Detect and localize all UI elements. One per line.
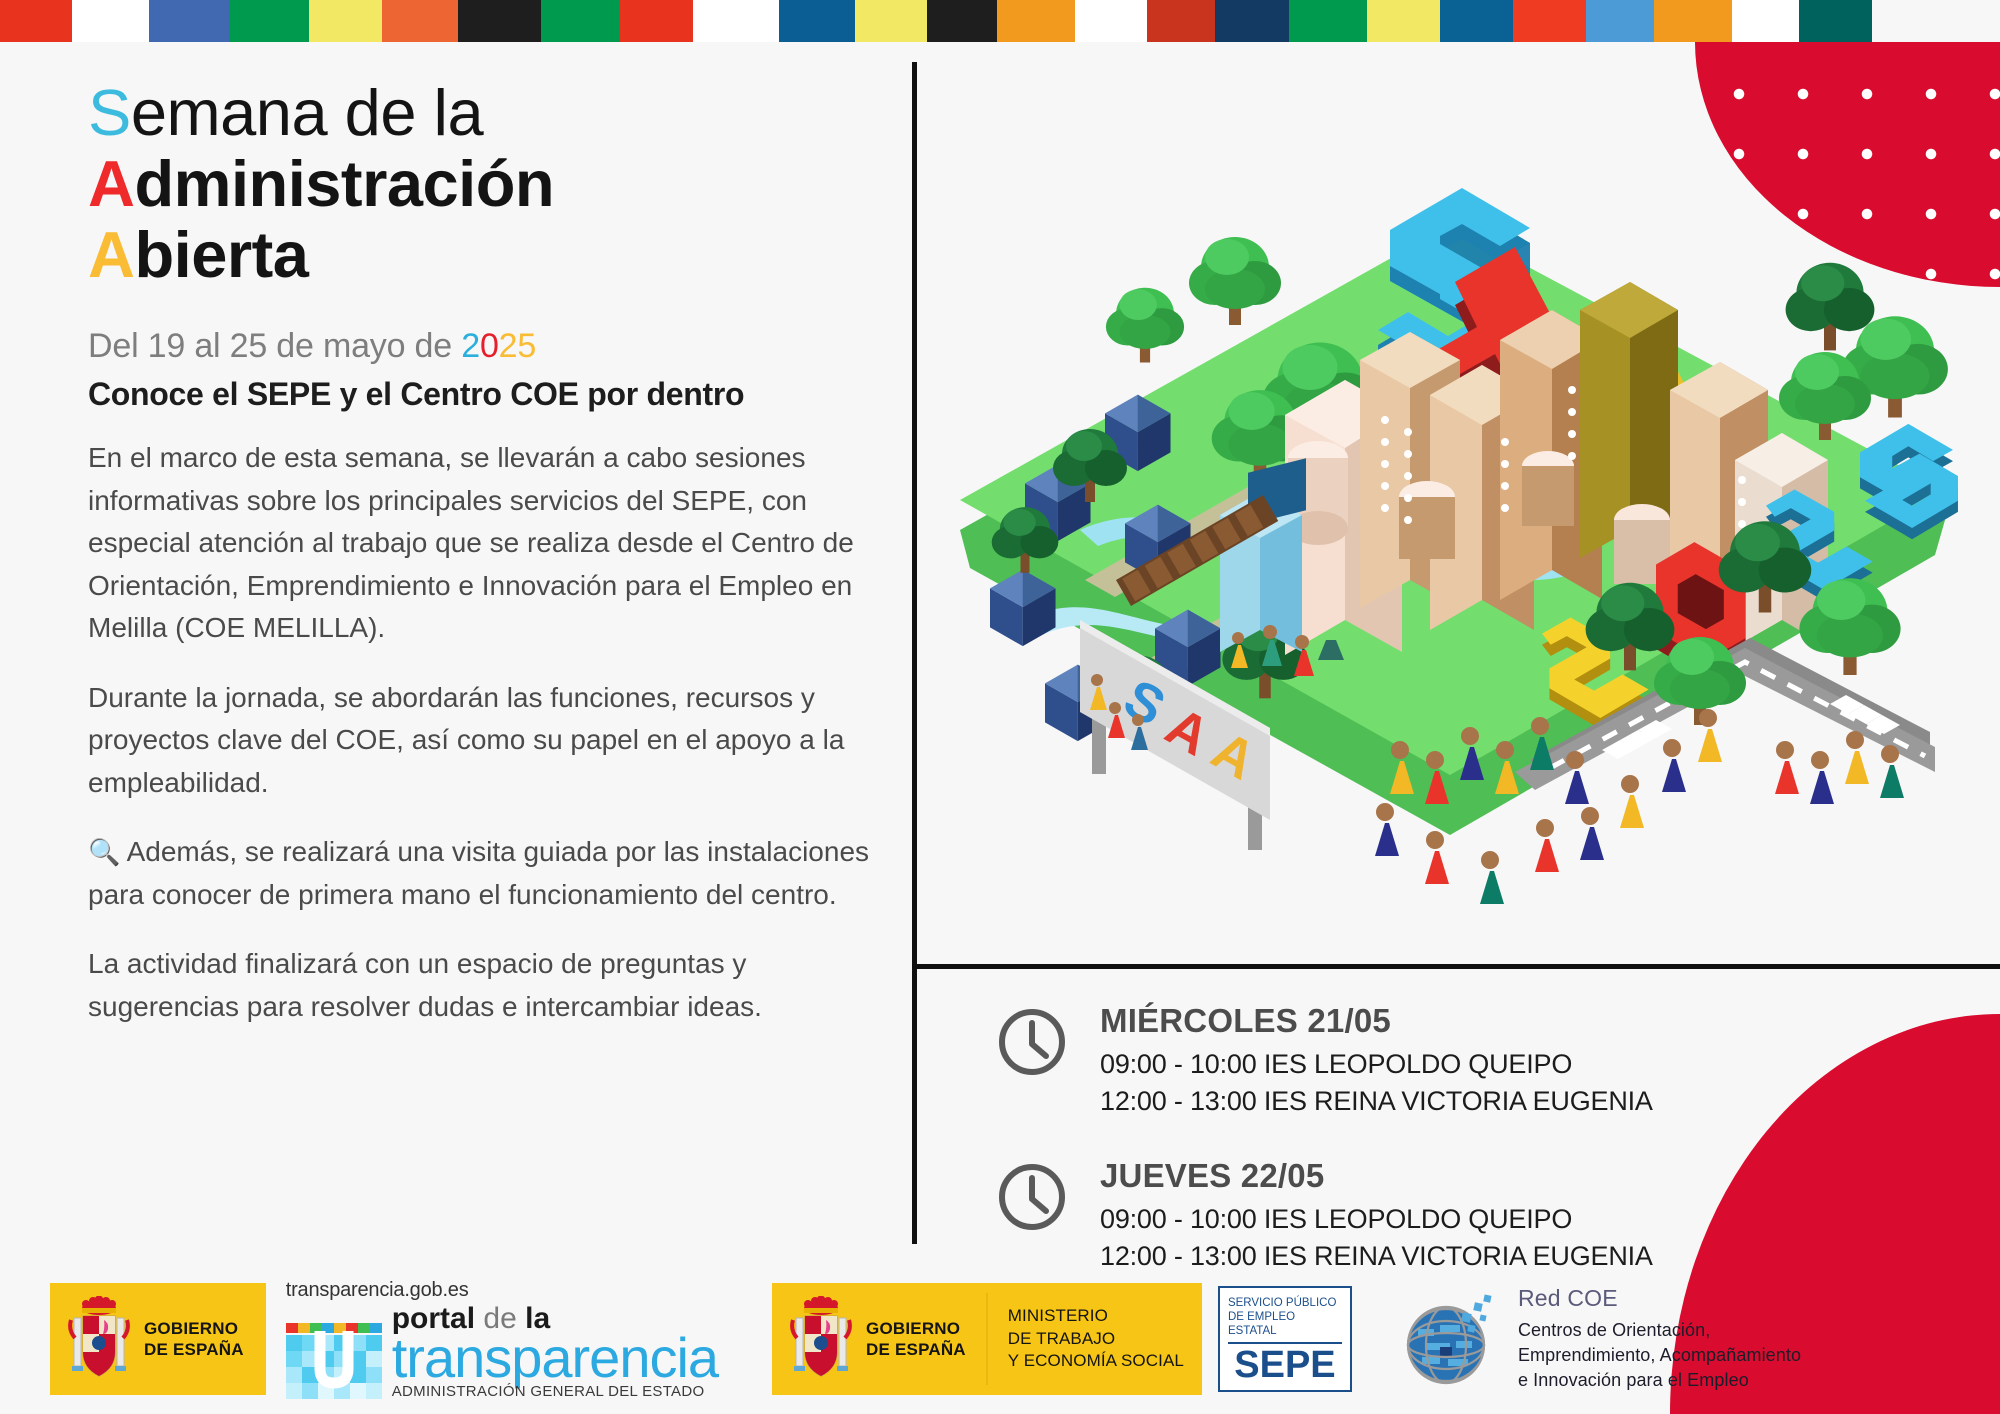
top-bar-stripe: [855, 0, 927, 42]
ministerio-label: MINISTERIO DE TRABAJO Y ECONOMÍA SOCIAL: [1008, 1305, 1184, 1374]
top-bar-stripe: [1147, 0, 1215, 42]
top-color-bar: [0, 0, 2000, 42]
year-digit-1: 2: [461, 327, 480, 365]
title-cap-a2: A: [88, 218, 134, 291]
schedule-item: 12:00 - 13:00 IES REINA VICTORIA EUGENIA: [1100, 1083, 1653, 1120]
top-bar-stripe: [693, 0, 779, 42]
top-bar-stripe: [1215, 0, 1289, 42]
magnifier-icon: 🔍: [88, 837, 120, 867]
event-dates: Del 19 al 25 de mayo de 2025: [88, 327, 872, 366]
gobierno-line-1: GOBIERNO: [144, 1318, 244, 1339]
red-coe-sub-line-2: Emprendimiento, Acompañamiento: [1518, 1343, 1801, 1368]
clock-icon: [996, 1161, 1068, 1233]
body-paragraph-1: En el marco de esta semana, se llevarán …: [88, 437, 872, 650]
footer-logos: GOBIERNO DE ESPAÑA transparencia.gob.es: [0, 1264, 2000, 1414]
sepe-logo: SERVICIO PÚBLICO DE EMPLEO ESTATAL SEPE: [1218, 1286, 1352, 1392]
top-bar-stripe: [1440, 0, 1513, 42]
top-bar-stripe: [382, 0, 458, 42]
title-line-1: Semana de la: [88, 80, 872, 145]
transparencia-caption: ADMINISTRACIÓN GENERAL DEL ESTADO: [392, 1384, 718, 1399]
clock-icon: [996, 1006, 1068, 1078]
sepe-subtitle: SERVICIO PÚBLICO DE EMPLEO ESTATAL: [1228, 1296, 1342, 1338]
top-bar-stripe: [1367, 0, 1440, 42]
schedule-day-label: MIÉRCOLES 21/05: [1100, 1002, 1653, 1040]
title-line-3: Abierta: [88, 222, 872, 287]
schedule-row: JUEVES 22/05 09:00 - 10:00 IES LEOPOLDO …: [996, 1155, 1956, 1276]
body-paragraph-3: 🔍 Además, se realizará una visita guiada…: [88, 831, 872, 916]
coat-of-arms-icon: [790, 1296, 852, 1382]
page-title: Semana de la Administración Abierta: [88, 80, 872, 287]
top-bar-stripe: [1513, 0, 1586, 42]
title-cap-s: S: [88, 76, 131, 149]
schedule-item: 09:00 - 10:00 IES LEOPOLDO QUEIPO: [1100, 1201, 1653, 1238]
vertical-divider: [912, 62, 917, 1244]
body-paragraph-3-text: Además, se realizará una visita guiada p…: [88, 836, 869, 910]
body-paragraph-2: Durante la jornada, se abordarán las fun…: [88, 677, 872, 805]
sepe-subtitle-line-1: SERVICIO PÚBLICO: [1228, 1296, 1342, 1310]
title-rest-1: emana de la: [131, 76, 483, 149]
gobierno-espana-logo: GOBIERNO DE ESPAÑA: [50, 1283, 266, 1395]
top-bar-stripe: [309, 0, 382, 42]
top-bar-stripe: [1586, 0, 1654, 42]
ministerio-logo: GOBIERNO DE ESPAÑA MINISTERIO DE TRABAJO…: [772, 1283, 1202, 1395]
page-subtitle: Conoce el SEPE y el Centro COE por dentr…: [88, 376, 872, 413]
top-bar-stripe: [1799, 0, 1872, 42]
top-bar-stripe: [0, 0, 72, 42]
coat-of-arms-icon: [68, 1296, 130, 1382]
ministerio-line-2: DE TRABAJO: [1008, 1328, 1184, 1351]
title-cap-a1: A: [88, 147, 134, 220]
top-bar-stripe: [779, 0, 855, 42]
top-bar-stripe: [1289, 0, 1367, 42]
top-bar-stripe: [997, 0, 1075, 42]
body-paragraph-4: La actividad finalizará con un espacio d…: [88, 943, 872, 1028]
gobierno-line-2: DE ESPAÑA: [144, 1339, 244, 1360]
year-digit-4: 5: [517, 327, 536, 365]
ministerio-divider: [986, 1293, 988, 1385]
transparencia-mark-icon: [286, 1323, 382, 1399]
red-coe-logo: Red COE Centros de Orientación, Emprendi…: [1396, 1285, 1801, 1394]
red-coe-sub-line-1: Centros de Orientación,: [1518, 1318, 1801, 1343]
ministerio-gob-line-1: GOBIERNO: [866, 1318, 966, 1339]
top-bar-stripe: [620, 0, 693, 42]
left-content-column: Semana de la Administración Abierta Del …: [0, 42, 912, 1272]
top-bar-stripe: [229, 0, 309, 42]
title-rest-3: bierta: [134, 218, 308, 291]
schedule-list: MIÉRCOLES 21/05 09:00 - 10:00 IES LEOPOL…: [996, 1000, 1956, 1309]
red-coe-title: Red COE: [1518, 1285, 1801, 1312]
red-coe-subtitle: Centros de Orientación, Emprendimiento, …: [1518, 1318, 1801, 1394]
sepe-wordmark: SEPE: [1234, 1346, 1335, 1384]
isometric-city-illustration: S A A: [930, 60, 2000, 960]
year-digit-2: 0: [480, 327, 499, 365]
schedule-item: 09:00 - 10:00 IES LEOPOLDO QUEIPO: [1100, 1046, 1653, 1083]
ministerio-gobierno-label: GOBIERNO DE ESPAÑA: [866, 1318, 966, 1361]
title-line-2: Administración: [88, 151, 872, 216]
body-copy: En el marco de esta semana, se llevarán …: [88, 437, 872, 1029]
top-bar-stripe: [1732, 0, 1799, 42]
schedule-day-label: JUEVES 22/05: [1100, 1157, 1653, 1195]
year-digit-3: 2: [499, 327, 518, 365]
transparencia-logo: transparencia.gob.es: [286, 1279, 718, 1399]
top-bar-stripe: [1075, 0, 1147, 42]
ministerio-gob-line-2: DE ESPAÑA: [866, 1339, 966, 1360]
top-bar-stripe: [72, 0, 149, 42]
top-bar-stripe: [541, 0, 620, 42]
transparencia-url: transparencia.gob.es: [286, 1279, 718, 1302]
globe-icon: [1396, 1285, 1504, 1393]
schedule-row: MIÉRCOLES 21/05 09:00 - 10:00 IES LEOPOL…: [996, 1000, 1956, 1121]
red-coe-sub-line-3: e Innovación para el Empleo: [1518, 1368, 1801, 1393]
horizontal-divider: [912, 964, 2000, 969]
title-rest-2: dministración: [134, 147, 554, 220]
top-bar-stripe: [1654, 0, 1732, 42]
top-bar-stripe: [149, 0, 229, 42]
ministerio-line-1: MINISTERIO: [1008, 1305, 1184, 1328]
date-prefix: Del 19 al 25 de mayo de: [88, 327, 461, 365]
gobierno-espana-label: GOBIERNO DE ESPAÑA: [144, 1318, 244, 1361]
sepe-subtitle-line-2: DE EMPLEO ESTATAL: [1228, 1310, 1342, 1338]
transparencia-wordmark: transparencia: [392, 1330, 718, 1386]
ministerio-line-3: Y ECONOMÍA SOCIAL: [1008, 1350, 1184, 1373]
top-bar-stripe: [458, 0, 541, 42]
top-bar-stripe: [927, 0, 997, 42]
